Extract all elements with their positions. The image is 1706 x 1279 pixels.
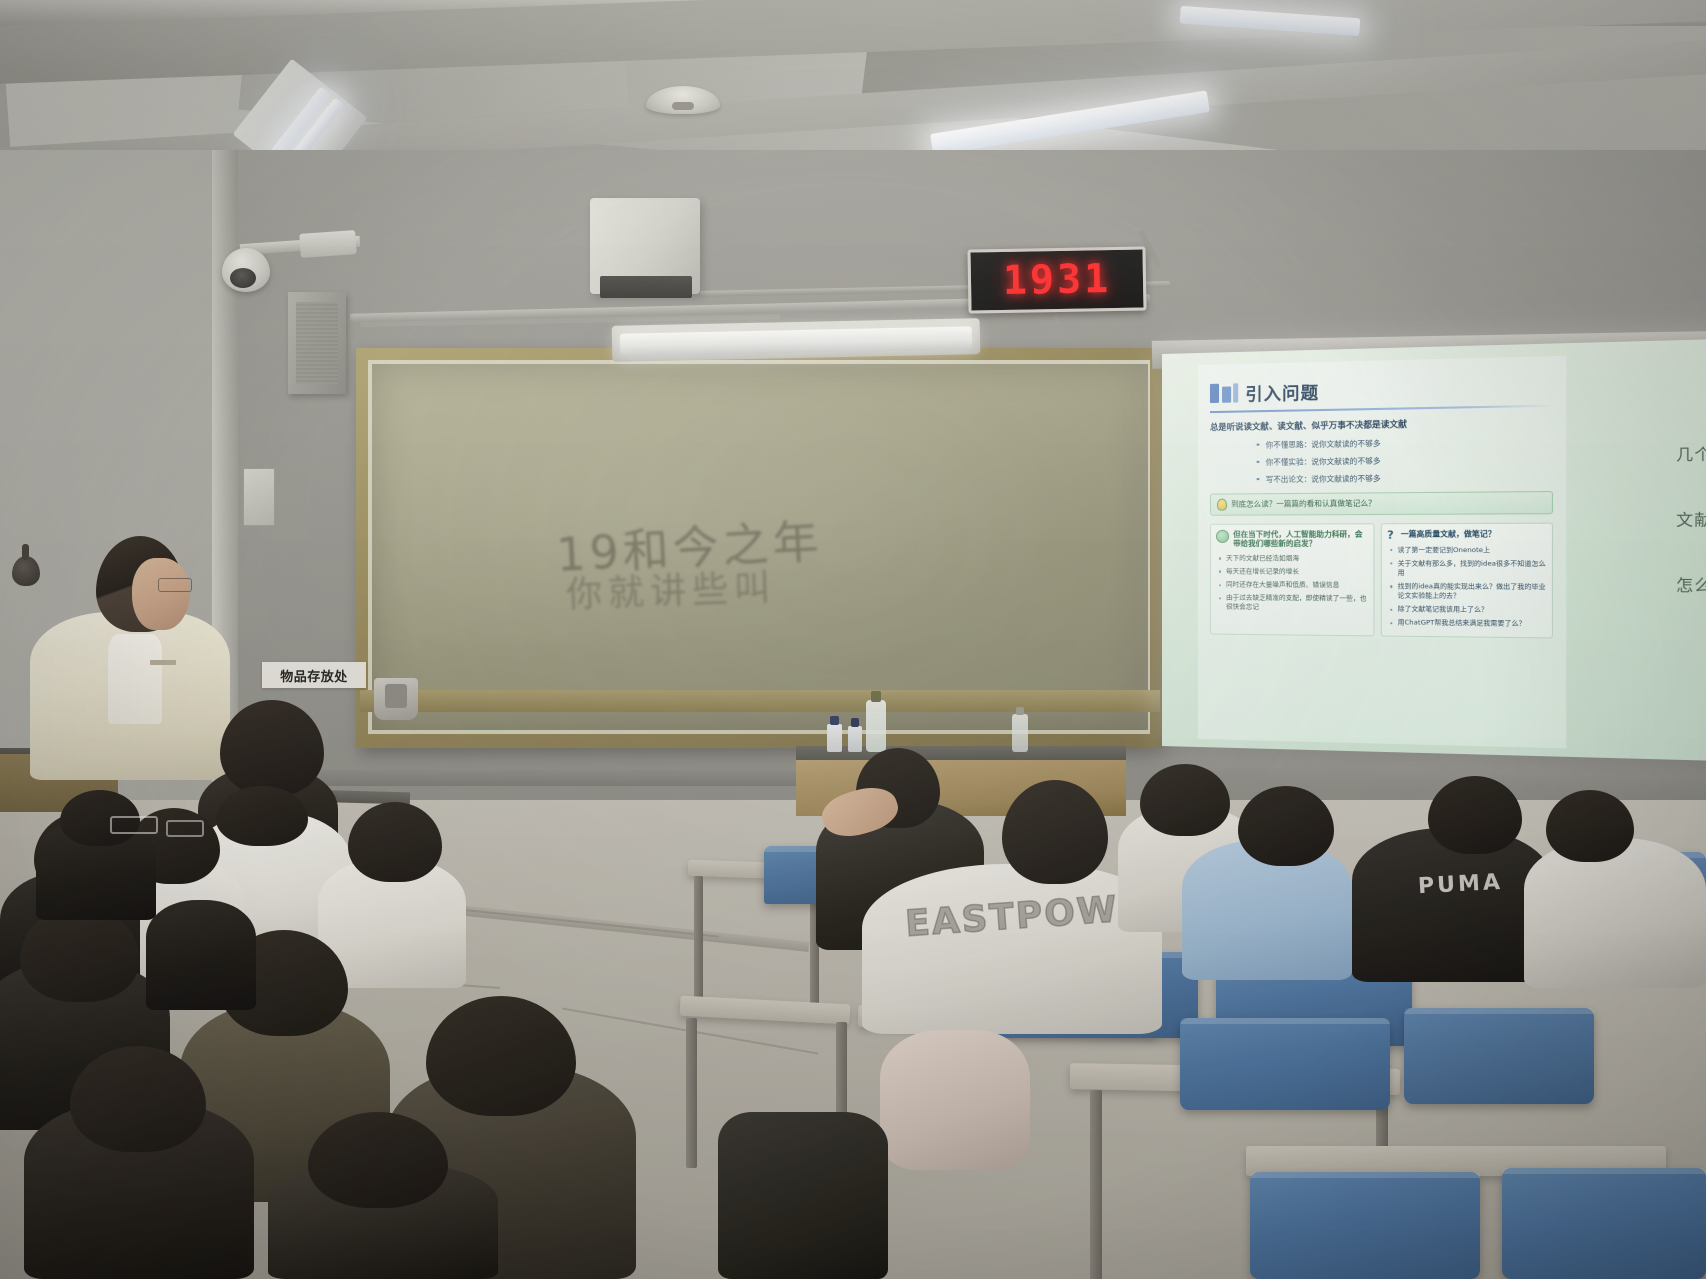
instructor-shirt: [108, 634, 162, 724]
slide-panel-left-list: 天下的文献已经浩如烟海 每天还在增长记录的增长 同时还存在大量噪声和低质、错误信…: [1219, 554, 1368, 613]
side-text: 文献: [1640, 508, 1706, 531]
slide-title-underline: [1210, 405, 1553, 413]
side-text: 怎么: [1640, 573, 1706, 596]
list-item: 每天还在增长记录的增长: [1219, 567, 1368, 577]
glasses-icon: [110, 816, 158, 834]
beige-backpack: [880, 1030, 1030, 1170]
screen-side-column: 几个 文献 怎么: [1640, 442, 1706, 640]
clear-water-bottle: [866, 700, 886, 752]
list-item: 找到的idea真的能实现出来么？做出了我的毕业论文实验能上的去？: [1390, 582, 1546, 602]
slide-bullet: 写不出论文：说你文献读的不够多: [1257, 471, 1554, 485]
slide-title: 引入问题: [1245, 378, 1319, 405]
speaker-vent-panel: [600, 276, 692, 298]
wall-speaker-grey: [288, 292, 346, 394]
instructor-face: [132, 558, 190, 630]
slide-panel-left-head: 但在当下时代，人工智能助力科研，会带给我们哪些新的启发？: [1216, 529, 1368, 549]
slide-bullet: 你不懂实验：说你文献读的不够多: [1257, 453, 1554, 468]
glasses-icon: [166, 820, 204, 837]
slide-title-row: 引入问题: [1210, 373, 1553, 406]
far-bottle: [1012, 714, 1028, 752]
presentation-slide: 引入问题 总是听说读文献、读文献、似乎万事不决都是读文献 你不懂思路：说你文献读…: [1198, 356, 1566, 749]
security-camera-icon: [222, 248, 270, 292]
slide-callout-text: 到底怎么读？一篇篇的看和认真做笔记么？: [1231, 498, 1376, 510]
slide-panel-right-heading: 一篇高质量文献，做笔记？: [1401, 529, 1496, 539]
lightbulb-icon: [1217, 498, 1227, 510]
chalkboard-tray: [360, 690, 1160, 712]
jacket-brand-text: PUMA: [1417, 870, 1503, 899]
blue-cap-bottle: [827, 724, 842, 752]
instructor-jacket-pocket: [150, 660, 176, 665]
list-item: 天下的文献已经浩如烟海: [1219, 554, 1368, 563]
wall-control-plate[interactable]: [243, 468, 275, 526]
classroom-photo: 1931 19和今之年 你就讲些叫 物品存放处 引入问题 总是听说读文献、读文献…: [0, 0, 1706, 1279]
desk-leg: [686, 1018, 697, 1168]
wall-digital-clock: 1931: [967, 246, 1146, 313]
blue-cap-bottle-2: [848, 726, 862, 752]
slide-panel-right: ? 一篇高质量文献，做笔记？ 读了第一定要记到Onenote上 关于文献有那么多…: [1381, 522, 1553, 639]
blue-chair[interactable]: [1404, 1008, 1594, 1104]
slide-bullet-list: 你不懂思路：说你文献读的不够多 你不懂实验：说你文献读的不够多 写不出论文：说你…: [1216, 435, 1553, 485]
slide-bullet: 你不懂思路：说你文献读的不够多: [1257, 435, 1554, 451]
slide-callout: 到底怎么读？一篇篇的看和认真做笔记么？: [1210, 491, 1553, 516]
chalkboard-eraser-holder[interactable]: [374, 678, 418, 720]
list-item: 除了文献笔记我该用上了么？: [1390, 605, 1546, 616]
slide-bars-icon: [1210, 383, 1238, 403]
slide-panels: 但在当下时代，人工智能助力科研，会带给我们哪些新的启发？ 天下的文献已经浩如烟海…: [1210, 522, 1553, 639]
list-item: 用ChatGPT帮我总结来满足我需要了么？: [1390, 618, 1546, 629]
brain-icon: [1216, 530, 1229, 543]
glasses-icon: [158, 578, 192, 592]
question-mark-icon: ?: [1387, 529, 1397, 540]
black-bag: [718, 1112, 888, 1279]
side-text: 几个: [1640, 442, 1706, 466]
slide-panel-right-list: 读了第一定要记到Onenote上 关于文献有那么多，找到的idea很多不知道怎么…: [1390, 545, 1546, 629]
slide-panel-right-head: ? 一篇高质量文献，做笔记？: [1387, 529, 1546, 541]
camera-housing: [299, 230, 357, 258]
list-item: 关于文献有那么多，找到的idea很多不知道怎么用: [1390, 559, 1546, 578]
clock-digits: 1931: [1002, 256, 1111, 304]
storage-area-sign: 物品存放处: [262, 662, 366, 688]
blue-chair[interactable]: [1180, 1018, 1390, 1110]
blue-chair[interactable]: [1250, 1172, 1480, 1279]
slide-panel-left-heading: 但在当下时代，人工智能助力科研，会带给我们哪些新的启发？: [1233, 529, 1368, 549]
list-item: 读了第一定要记到Onenote上: [1390, 545, 1546, 555]
desk-leg: [694, 876, 703, 1016]
chalkboard-writing-line-2: 你就讲些叫: [565, 558, 777, 617]
projection-screen: 引入问题 总是听说读文献、读文献、似乎万事不决都是读文献 你不懂思路：说你文献读…: [1162, 338, 1706, 762]
slide-panel-left: 但在当下时代，人工智能助力科研，会带给我们哪些新的启发？ 天下的文献已经浩如烟海…: [1210, 523, 1374, 637]
blue-chair[interactable]: [1502, 1168, 1706, 1279]
list-item: 同时还存在大量噪声和低质、错误信息: [1219, 580, 1368, 590]
desk-leg: [1090, 1090, 1102, 1279]
storage-sign-label: 物品存放处: [280, 666, 348, 685]
wall-hook: [12, 556, 40, 586]
slide-lead-text: 总是听说读文献、读文献、似乎万事不决都是读文献: [1210, 416, 1553, 433]
list-item: 由于过去缺乏精准的支配，即使精读了一些，也很快会忘记: [1219, 594, 1368, 614]
